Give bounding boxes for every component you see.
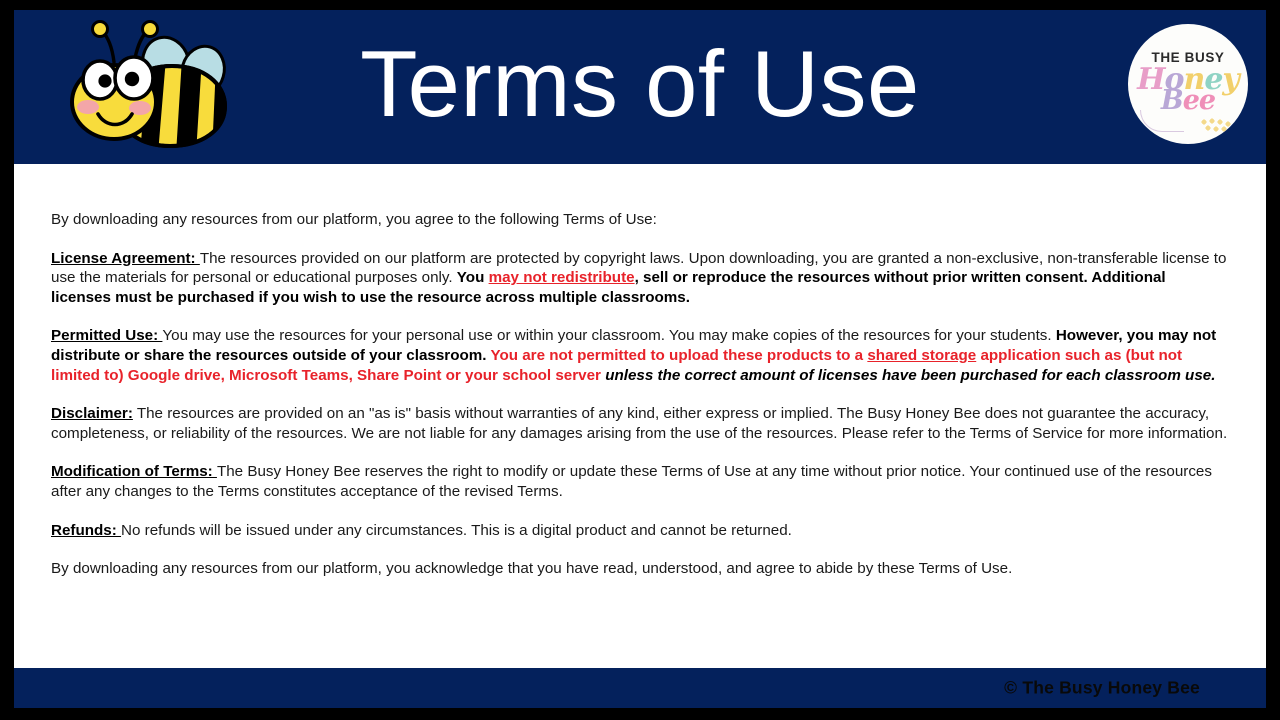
refunds-paragraph: Refunds: No refunds will be issued under… [51, 521, 1228, 541]
disclaimer-heading: Disclaimer: [51, 405, 133, 422]
modification-heading: Modification of Terms: [51, 463, 217, 480]
license-agreement-heading: License Agreement: [51, 250, 200, 267]
modification-paragraph: Modification of Terms: The Busy Honey Be… [51, 462, 1228, 501]
intro-paragraph: By downloading any resources from our pl… [51, 210, 1228, 230]
copyright-notice: © The Busy Honey Bee [1004, 678, 1200, 699]
permitted-use-heading: Permitted Use: [51, 327, 162, 344]
disclaimer-paragraph: Disclaimer: The resources are provided o… [51, 404, 1228, 443]
permitted-red-text-1: You are not permitted to upload these pr… [490, 347, 867, 364]
permitted-use-paragraph: Permitted Use: You may use the resources… [51, 326, 1228, 385]
permitted-use-text: You may use the resources for your perso… [162, 327, 1055, 344]
page-title: Terms of Use [14, 10, 1266, 164]
permitted-red-underline: shared storage [867, 347, 976, 364]
refunds-text: No refunds will be issued under any circ… [121, 522, 792, 539]
footer-bar: © The Busy Honey Bee [14, 668, 1266, 708]
license-agreement-paragraph: License Agreement: The resources provide… [51, 249, 1228, 308]
license-red-underline: may not redistribute [489, 269, 635, 286]
logo-script-text: Honey Bee [1137, 66, 1239, 114]
license-bold-you: You [457, 269, 489, 286]
disclaimer-text: The resources are provided on an "as is"… [51, 405, 1227, 442]
permitted-bold-italic-text: unless the correct amount of licenses ha… [605, 367, 1215, 384]
logo-honeycomb-decoration [1200, 118, 1234, 134]
closing-paragraph: By downloading any resources from our pl… [51, 559, 1228, 579]
slide-canvas: Terms of Use THE BUSY Honey Bee By downl… [0, 0, 1280, 720]
header-bar: Terms of Use THE BUSY Honey Bee [14, 10, 1266, 164]
brand-logo: THE BUSY Honey Bee [1128, 24, 1248, 144]
refunds-heading: Refunds: [51, 522, 121, 539]
terms-content: By downloading any resources from our pl… [14, 164, 1266, 668]
modification-text: The Busy Honey Bee reserves the right to… [51, 463, 1212, 500]
